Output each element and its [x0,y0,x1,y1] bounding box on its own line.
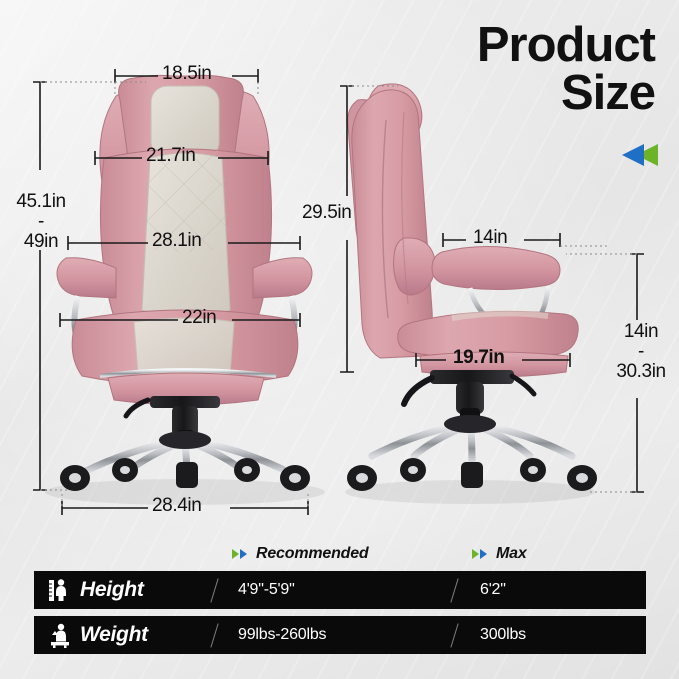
dim-seat-height: 14in - 30.3in [605,322,677,381]
header-recommended-label: Recommended [256,545,369,563]
spec-table: Recommended Max [34,545,646,661]
front-view-chair-graphic [45,75,325,505]
dim-seat-depth: 19.7in [453,348,504,367]
dim-upper-back-width: 21.7in [146,146,195,165]
header-recommended: Recommended [232,545,369,563]
side-view-chair-graphic [345,84,597,504]
cell-weight-recommended: 99lbs-260lbs [238,616,326,654]
dim-seat-height-separator: - [605,342,677,362]
dim-overall-height-separator: - [8,212,74,232]
dim-backrest-width: 28.1in [152,231,201,250]
row-divider-2 [450,623,458,647]
dim-base-width: 28.4in [152,496,201,515]
row-label-weight: Weight [48,616,148,654]
dim-overall-height-min: 45.1in [8,192,74,212]
table-row-weight: Weight 99lbs-260lbs 300lbs [34,616,646,654]
table-row-height: Height 4'9"-5'9" 6'2" [34,571,646,609]
dim-overall-height-max: 49in [8,232,74,252]
cell-height-recommended: 4'9"-5'9" [238,571,295,609]
double-chevron-icon [232,548,250,560]
dim-seat-width: 22in [182,308,216,327]
dim-backrest-height: 29.5in [302,203,351,222]
dim-seat-height-max: 30.3in [605,362,677,382]
height-person-ruler-icon [48,577,71,603]
spec-table-header: Recommended Max [34,545,646,571]
dim-headrest-width: 18.5in [162,64,211,83]
row-label-weight-text: Weight [80,623,148,647]
product-size-infographic: Product Size [0,0,679,679]
dim-armrest-depth: 14in [473,228,507,247]
header-max: Max [472,545,527,563]
header-max-label: Max [496,545,527,563]
double-chevron-icon [472,548,490,560]
row-label-height-text: Height [80,578,144,602]
row-label-height: Height [48,571,144,609]
row-divider-2 [450,578,458,602]
row-divider-1 [210,578,218,602]
cell-weight-max: 300lbs [480,616,526,654]
dim-seat-height-min: 14in [605,322,677,342]
cell-height-max: 6'2" [480,571,506,609]
dim-overall-height: 45.1in - 49in [8,192,74,251]
row-divider-1 [210,623,218,647]
weight-person-scale-icon [48,622,71,648]
